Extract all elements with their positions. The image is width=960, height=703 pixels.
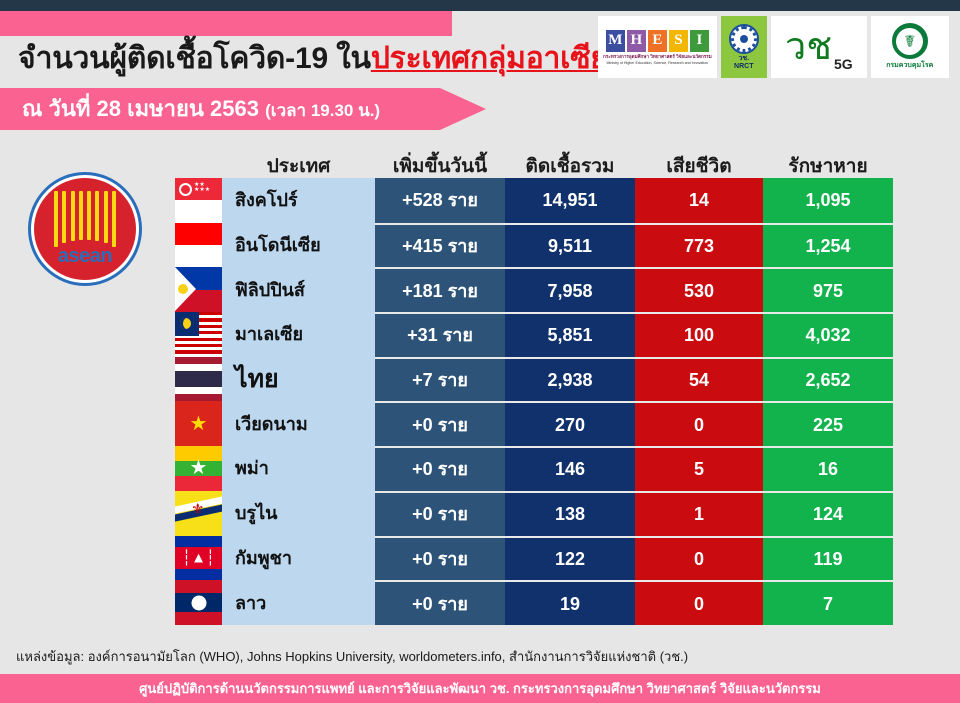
cell-country: ลาว (222, 580, 375, 625)
table-row: ★★★★★สิงคโปร์+528 ราย14,951141,095 (175, 178, 893, 223)
table-body: ★★★★★สิงคโปร์+528 ราย14,951141,095อินโดน… (175, 178, 893, 625)
cell-total-cases: 5,851 (505, 312, 635, 357)
mhesi-letter-h: H (627, 30, 646, 52)
cell-new-cases: +0 ราย (375, 536, 505, 581)
cell-deaths: 1 (635, 491, 763, 536)
infographic-page: จำนวนผู้ติดเชื้อโควิด-19 ในประเทศกลุ่มอา… (0, 0, 960, 703)
cell-total-cases: 19 (505, 580, 635, 625)
nrct-wordmark-logo: วช 5G (771, 16, 867, 78)
flag-myanmar-icon: ★ (175, 446, 222, 491)
table-row: ┆▲┆กัมพูชา+0 ราย1220119 (175, 536, 893, 581)
cell-country: ไทย (222, 357, 375, 402)
cell-total-cases: 122 (505, 536, 635, 581)
cell-country: พม่า (222, 446, 375, 491)
mhesi-letter-i: I (690, 30, 709, 52)
table-row: มาเลเซีย+31 ราย5,8511004,032 (175, 312, 893, 357)
flag-laos-icon (175, 580, 222, 625)
mhesi-english-name: Ministry of Higher Education, Science, R… (607, 61, 709, 65)
cell-recovered: 2,652 (763, 357, 893, 402)
cell-country: ฟิลิปปินส์ (222, 267, 375, 312)
footer-organization-text: ศูนย์ปฏิบัติการด้านนวัตกรรมการแพทย์ และก… (139, 678, 821, 699)
cell-country: สิงคโปร์ (222, 178, 375, 223)
mhesi-thai-name: กระทรวงการอุดมศึกษา วิทยาศาสตร์ วิจัยและ… (603, 54, 712, 61)
cell-new-cases: +0 ราย (375, 580, 505, 625)
flag-malaysia-icon (175, 312, 222, 357)
flag-philippines-icon (175, 267, 222, 312)
table-row: อินโดนีเซีย+415 ราย9,5117731,254 (175, 223, 893, 268)
flag-thailand-icon (175, 357, 222, 402)
mhesi-logo: M H E S I กระทรวงการอุดมศึกษา วิทยาศาสตร… (598, 16, 717, 78)
vor-thai-mark: วช (785, 32, 832, 62)
table-row: ⚜บรูไน+0 ราย1381124 (175, 491, 893, 536)
top-navy-bar (0, 0, 960, 11)
nrct-seal-icon (729, 24, 759, 54)
vor-5g-label: 5G (834, 56, 853, 72)
nrct-english-abbr: NRCT (734, 63, 753, 70)
vietnam-star-icon: ★ (190, 414, 208, 434)
column-header-deaths: เสียชีวิต (635, 157, 763, 178)
cell-recovered: 1,095 (763, 178, 893, 223)
cell-total-cases: 7,958 (505, 267, 635, 312)
cell-deaths: 0 (635, 536, 763, 581)
malaysia-crescent-icon (180, 318, 191, 329)
cell-recovered: 16 (763, 446, 893, 491)
subtitle-date: ณ วันที่ 28 เมษายน 2563 (22, 96, 259, 121)
column-header-country: ประเทศ (222, 157, 375, 178)
page-title: จำนวนผู้ติดเชื้อโควิด-19 ในประเทศกลุ่มอา… (18, 36, 598, 81)
singapore-stars-icon: ★★★★★ (194, 183, 210, 193)
cell-recovered: 4,032 (763, 312, 893, 357)
nrct-logo: วช. NRCT (721, 16, 767, 78)
cell-deaths: 5 (635, 446, 763, 491)
cell-country: บรูไน (222, 491, 375, 536)
cell-new-cases: +0 ราย (375, 491, 505, 536)
cell-recovered: 1,254 (763, 223, 893, 268)
cambodia-temple-icon: ┆▲┆ (182, 550, 215, 565)
column-header-new-cases: เพิ่มขึ้นวันนี้ (375, 157, 505, 178)
cell-recovered: 225 (763, 401, 893, 446)
cell-new-cases: +528 ราย (375, 178, 505, 223)
covid-table: ประเทศ เพิ่มขึ้นวันนี้ ติดเชื้อรวม เสียช… (175, 148, 893, 625)
cell-country: เวียดนาม (222, 401, 375, 446)
cell-new-cases: +31 ราย (375, 312, 505, 357)
cell-new-cases: +0 ราย (375, 401, 505, 446)
table-row: ฟิลิปปินส์+181 ราย7,958530975 (175, 267, 893, 312)
cell-new-cases: +0 ราย (375, 446, 505, 491)
mhesi-letter-s: S (669, 30, 688, 52)
nrct-thai-abbr: วช. (734, 55, 753, 62)
cell-deaths: 14 (635, 178, 763, 223)
flag-cambodia-icon: ┆▲┆ (175, 536, 222, 581)
cell-total-cases: 270 (505, 401, 635, 446)
cell-deaths: 0 (635, 401, 763, 446)
myanmar-star-icon: ★ (190, 458, 208, 478)
source-note: แหล่งข้อมูล: องค์การอนามัยโลก (WHO), Joh… (16, 646, 688, 667)
moph-label: กรมควบคุมโรค (886, 60, 933, 71)
singapore-crescent-icon (179, 183, 192, 196)
cell-new-cases: +415 ราย (375, 223, 505, 268)
subtitle-banner: ณ วันที่ 28 เมษายน 2563 (เวลา 19.30 น.) (0, 88, 486, 130)
cell-total-cases: 14,951 (505, 178, 635, 223)
cell-recovered: 124 (763, 491, 893, 536)
cell-total-cases: 146 (505, 446, 635, 491)
cell-total-cases: 138 (505, 491, 635, 536)
cell-new-cases: +7 ราย (375, 357, 505, 402)
logo-strip: M H E S I กระทรวงการอุดมศึกษา วิทยาศาสตร… (598, 16, 949, 78)
mhesi-letter-e: E (648, 30, 667, 52)
cell-recovered: 119 (763, 536, 893, 581)
cell-deaths: 54 (635, 357, 763, 402)
asean-wordmark: asean (28, 246, 142, 266)
footer-bar: ศูนย์ปฏิบัติการด้านนวัตกรรมการแพทย์ และก… (0, 674, 960, 703)
cell-total-cases: 9,511 (505, 223, 635, 268)
mhesi-letter-m: M (606, 30, 625, 52)
flag-vietnam-icon: ★ (175, 401, 222, 446)
title-main-text: จำนวนผู้ติดเชื้อโควิด-19 ใน (18, 42, 371, 75)
cell-country: กัมพูชา (222, 536, 375, 581)
cell-new-cases: +181 ราย (375, 267, 505, 312)
flag-brunei-icon: ⚜ (175, 491, 222, 536)
column-header-total-cases: ติดเชื้อรวม (505, 157, 635, 178)
column-header-recovered: รักษาหาย (763, 157, 893, 178)
mhesi-letters: M H E S I (606, 30, 709, 52)
moph-logo: ☤ กรมควบคุมโรค (871, 16, 949, 78)
flag-singapore-icon: ★★★★★ (175, 178, 222, 223)
brunei-crest-icon: ⚜ (191, 502, 204, 517)
table-row: ลาว+0 ราย1907 (175, 580, 893, 625)
asean-rice-stalks-icon (54, 191, 116, 249)
cell-deaths: 100 (635, 312, 763, 357)
flag-indonesia-icon (175, 223, 222, 268)
title-accent-text: ประเทศกลุ่มอาเซียน (371, 42, 628, 75)
cell-recovered: 7 (763, 580, 893, 625)
table-header-row: ประเทศ เพิ่มขึ้นวันนี้ ติดเชื้อรวม เสียช… (175, 148, 893, 178)
moph-seal-icon: ☤ (892, 23, 928, 59)
cell-country: อินโดนีเซีย (222, 223, 375, 268)
table-row: ไทย+7 ราย2,938542,652 (175, 357, 893, 402)
cell-deaths: 530 (635, 267, 763, 312)
cell-deaths: 773 (635, 223, 763, 268)
laos-disc-icon (191, 595, 206, 610)
table-row: ★พม่า+0 ราย146516 (175, 446, 893, 491)
asean-logo: asean (28, 172, 142, 286)
table-row: ★เวียดนาม+0 ราย2700225 (175, 401, 893, 446)
cell-deaths: 0 (635, 580, 763, 625)
cell-total-cases: 2,938 (505, 357, 635, 402)
subtitle-time: (เวลา 19.30 น.) (265, 101, 380, 120)
cell-country: มาเลเซีย (222, 312, 375, 357)
title-pink-band (0, 11, 452, 36)
cell-recovered: 975 (763, 267, 893, 312)
